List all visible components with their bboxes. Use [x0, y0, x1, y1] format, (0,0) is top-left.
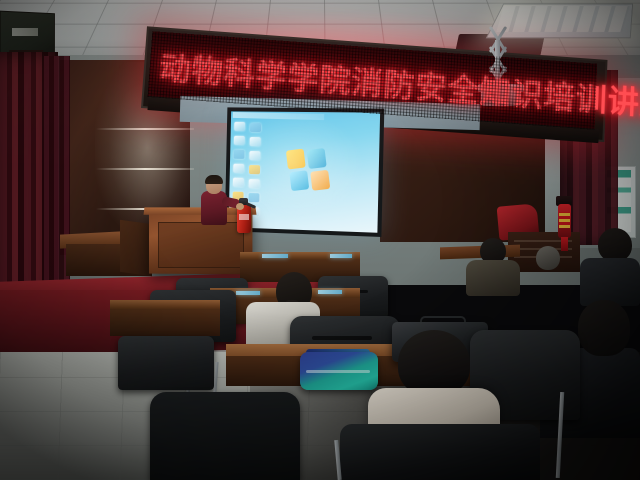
desk-row-left-front — [110, 310, 220, 336]
wood-panel-trim-line — [96, 128, 194, 130]
ornament-pattern — [559, 212, 570, 228]
attendee-head — [598, 228, 632, 262]
light-panel-tubes — [496, 6, 629, 32]
lecture-hall-photo: 动物科学学院消防安全知识培训讲座 — [0, 0, 640, 480]
teal-duffel-bag-zipper — [306, 370, 370, 373]
black-conference-chair — [118, 336, 214, 390]
chair-backrest-gap — [312, 336, 372, 340]
presenter-hand — [236, 203, 244, 210]
presenter-torso — [201, 191, 227, 225]
desk-nameplate-display — [236, 291, 260, 295]
podium-side-panel — [120, 220, 152, 276]
black-conference-chair — [340, 424, 540, 480]
attendee-head — [578, 300, 630, 356]
attendee-torso — [466, 260, 520, 296]
desk-nameplate-display — [262, 254, 288, 258]
fire-extinguisher-label — [239, 214, 249, 220]
presenter-hair — [205, 175, 223, 184]
attendee-torso — [580, 258, 640, 306]
ornament-tassel — [561, 237, 568, 251]
windows-logo — [286, 146, 332, 195]
podium-front-panel — [158, 222, 244, 268]
black-conference-chair — [150, 392, 300, 480]
desk-nameplate-display — [318, 290, 342, 294]
desk-nameplate-display — [330, 254, 352, 258]
speaker-logo-label — [12, 28, 38, 36]
attendee-head — [536, 246, 560, 270]
attendee-head — [398, 330, 470, 396]
wood-panel-trim-line — [96, 168, 194, 170]
